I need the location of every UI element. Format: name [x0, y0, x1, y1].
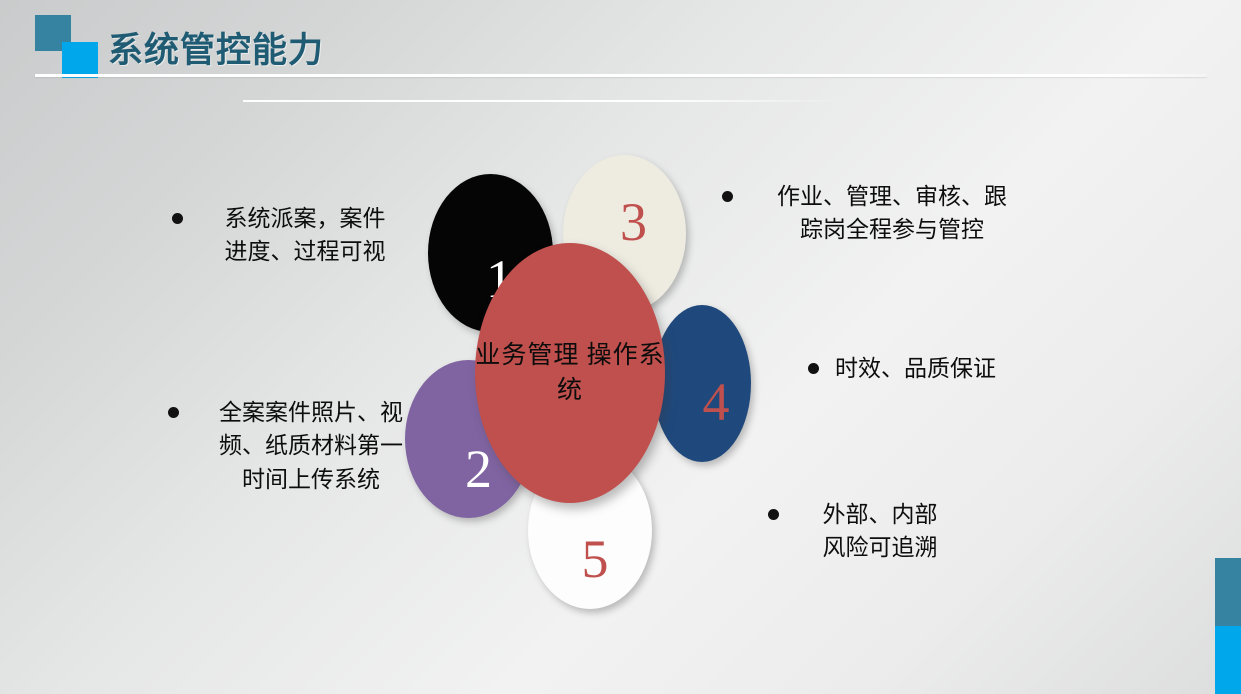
petal-number-5: 5	[582, 532, 609, 586]
title-divider-secondary	[243, 100, 843, 102]
bullet-dot-icon	[168, 407, 179, 418]
center-ellipse-label: 业务管理 操作系统	[475, 338, 665, 409]
petal-number-4: 4	[703, 375, 730, 429]
bullet-item-5: 外部、内部 风险可追溯	[768, 498, 965, 565]
bullet-text-3: 作业、管理、审核、跟 踪岗全程参与管控	[749, 180, 1035, 247]
petal-number-2: 2	[465, 442, 492, 496]
bullet-dot-icon	[768, 509, 779, 520]
bullet-item-3: 作业、管理、审核、跟 踪岗全程参与管控	[722, 180, 1035, 247]
center-ellipse[interactable]: 业务管理 操作系统	[475, 243, 665, 503]
bullet-item-4: 时效、品质保证	[808, 352, 1065, 385]
bullet-dot-icon	[172, 213, 183, 224]
title-divider	[35, 74, 1207, 77]
petal-ellipse-4[interactable]: 4	[653, 305, 751, 462]
bullet-dot-icon	[808, 363, 819, 374]
bullet-item-1: 系统派案，案件 进度、过程可视	[172, 202, 411, 269]
bullet-text-5: 外部、内部 风险可追溯	[795, 498, 965, 565]
page-title: 系统管控能力	[108, 22, 324, 73]
edge-accent-bar-top	[1215, 558, 1241, 626]
bullet-text-4: 时效、品质保证	[835, 352, 1065, 385]
slide-canvas: 系统管控能力 1 3 4 2 5 业务管理 操作系统 系统派案，案件 进度、过程…	[0, 0, 1241, 694]
edge-accent-bar-bottom	[1215, 626, 1241, 694]
header-square-light-icon	[62, 42, 98, 78]
bullet-text-1: 系统派案，案件 进度、过程可视	[199, 202, 411, 269]
bullet-text-2: 全案案件照片、视 频、纸质材料第一 时间上传系统	[195, 396, 427, 496]
bullet-item-2: 全案案件照片、视 频、纸质材料第一 时间上传系统	[168, 396, 427, 496]
bullet-dot-icon	[722, 191, 733, 202]
petal-number-3: 3	[620, 195, 647, 249]
